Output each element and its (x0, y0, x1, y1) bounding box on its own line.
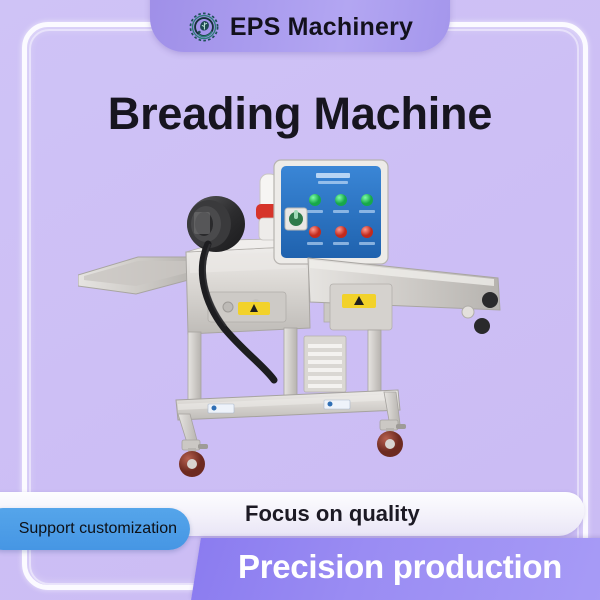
brand-header: EPS Machinery (150, 0, 450, 52)
support-customization-badge: Support customization (0, 508, 190, 550)
outfeed-conveyor (308, 258, 500, 334)
caster-wheel-left (179, 440, 208, 477)
caster-wheel-right (377, 420, 406, 457)
panel-green-button (309, 194, 321, 206)
tray-stack (304, 336, 346, 392)
infeed-tray (78, 257, 196, 294)
product-photo (78, 152, 526, 482)
panel-red-button (335, 226, 347, 238)
page-title: Breading Machine (0, 88, 600, 140)
poster-canvas: EPS Machinery Breading Machine Focus on … (0, 0, 600, 600)
panel-red-button (361, 226, 373, 238)
control-panel (274, 160, 388, 264)
brand-name: EPS Machinery (230, 15, 413, 40)
panel-green-button (335, 194, 347, 206)
panel-green-button (361, 194, 373, 206)
panel-red-button (309, 226, 321, 238)
support-badge-text: Support customization (19, 520, 177, 538)
base-frame (176, 328, 400, 446)
quality-banner-text: Focus on quality (245, 495, 575, 533)
gear-leaf-logo-icon (187, 10, 221, 44)
precision-banner-text: Precision production (238, 540, 578, 594)
blower-motor (187, 196, 245, 252)
